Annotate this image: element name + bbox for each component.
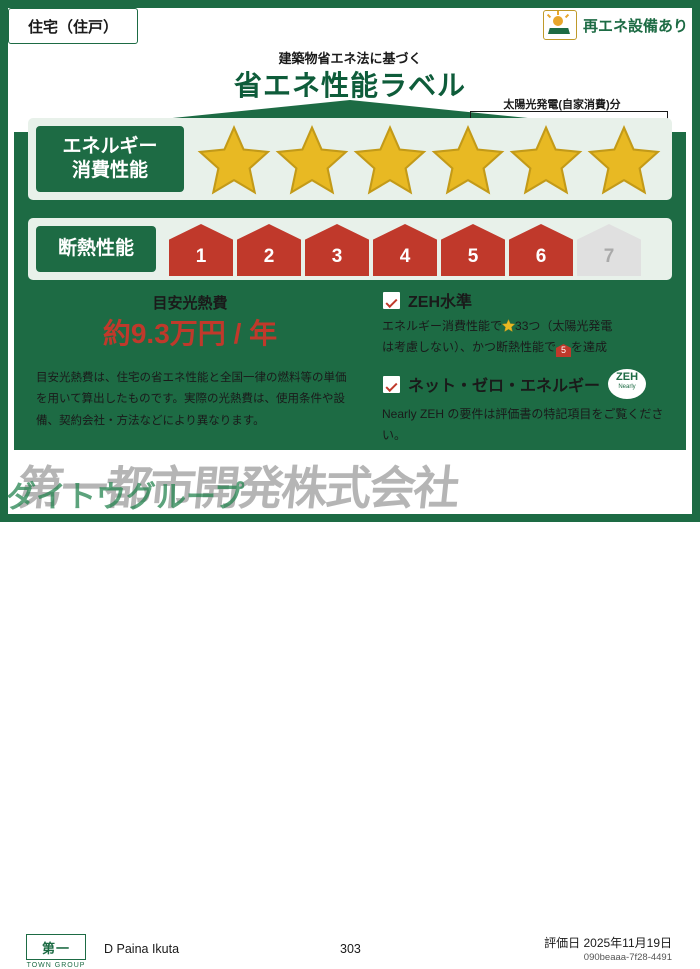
nearly-zeh-badge-main: ZEH — [616, 371, 638, 383]
insulation-level-7: 7 — [576, 222, 642, 276]
zeh-block: ZEH水準 エネルギー消費性能で33つ（太陽光発電 は考慮しない）、かつ断熱性能… — [382, 288, 674, 446]
housing-type-badge: 住宅（住戸） — [8, 8, 138, 44]
zeh-text-a: エネルギー消費性能で — [382, 319, 502, 333]
insulation-level-6: 6 — [508, 222, 574, 276]
insulation-level-5: 5 — [440, 222, 506, 276]
room-number: 303 — [340, 942, 361, 956]
zeh-text-c: は考慮しない）、かつ断熱性能で — [382, 340, 556, 354]
net-zero-energy-text: Nearly ZEH の要件は評価書の特記項目をご覧ください。 — [382, 404, 674, 446]
zeh-text-d: を達成 — [571, 340, 607, 354]
checkbox-checked-icon — [382, 291, 401, 310]
evaluation-code: 090beaaa-7f28-4491 — [584, 952, 672, 963]
cost-note: 目安光熱費は、住宅の省エネ性能と全国一律の燃料等の単価を用いて算出したものです。… — [36, 368, 356, 432]
cost-title: 目安光熱費 — [40, 292, 340, 313]
evaluation-date: 評価日 2025年11月19日 — [544, 934, 672, 951]
energy-label-line2: 消費性能 — [62, 159, 157, 183]
energy-performance-label: エネルギー 消費性能 — [36, 126, 184, 192]
zeh-standard-head: ZEH水準 — [382, 288, 674, 312]
star-icon — [430, 124, 506, 196]
watermark-green-text: ダイトウグループ — [6, 472, 244, 516]
energy-label-line1: エネルギー — [62, 135, 157, 159]
checkbox-checked-icon-2 — [382, 375, 401, 394]
insulation-label-text: 断熱性能 — [58, 237, 134, 261]
property-name: D Paina Ikuta — [104, 942, 179, 956]
zeh-star-count: 3 — [515, 319, 522, 333]
star-icon — [586, 124, 662, 196]
star-icon — [196, 124, 272, 196]
insulation-level-3: 3 — [304, 222, 370, 276]
company-logo-sub: TOWN GROUP — [26, 962, 86, 969]
insulation-performance-label: 断熱性能 — [36, 226, 156, 272]
nearly-zeh-badge-sub: Nearly — [608, 384, 646, 390]
renewable-equipment-badge: 再エネ設備あり — [543, 10, 688, 40]
company-logo-mark: 第一 — [26, 934, 86, 960]
net-zero-energy-head: ネット・ゼロ・エネルギー ZEH Nearly — [382, 368, 674, 400]
insulation-level-1: 1 — [168, 222, 234, 276]
zeh-standard-title: ZEH水準 — [408, 288, 472, 312]
star-icon — [508, 124, 584, 196]
star-icon — [352, 124, 428, 196]
insulation-level-4: 4 — [372, 222, 438, 276]
star-icon — [274, 124, 350, 196]
star-rating — [196, 124, 666, 196]
net-zero-energy-title: ネット・ゼロ・エネルギー — [408, 372, 600, 396]
insulation-levels: 1234567 — [168, 222, 668, 278]
company-logo: 第一 TOWN GROUP — [26, 934, 86, 968]
zeh-standard-text: エネルギー消費性能で33つ（太陽光発電 は考慮しない）、かつ断熱性能で5を達成 — [382, 316, 674, 358]
solar-generation-note: 太陽光発電(自家消費)分 — [452, 96, 672, 112]
nearly-zeh-badge: ZEH Nearly — [607, 368, 647, 400]
renewable-label: 再エネ設備あり — [583, 15, 688, 36]
zeh-text-b: 3つ（太陽光発電 — [522, 319, 613, 333]
housing-type-label: 住宅（住戸） — [28, 16, 118, 37]
insulation-level-2: 2 — [236, 222, 302, 276]
insulation-level-icon-small: 5 — [556, 344, 571, 357]
energy-performance-label-page: 住宅（住戸） 再エネ設備あり 建築物省エネ法に基づく 省エネ性能ラベル 太陽光発… — [0, 0, 700, 522]
star-icon-small — [502, 318, 515, 331]
cost-value: 約9.3万円 / 年 — [40, 312, 340, 352]
solar-panel-sun-icon — [543, 10, 577, 40]
